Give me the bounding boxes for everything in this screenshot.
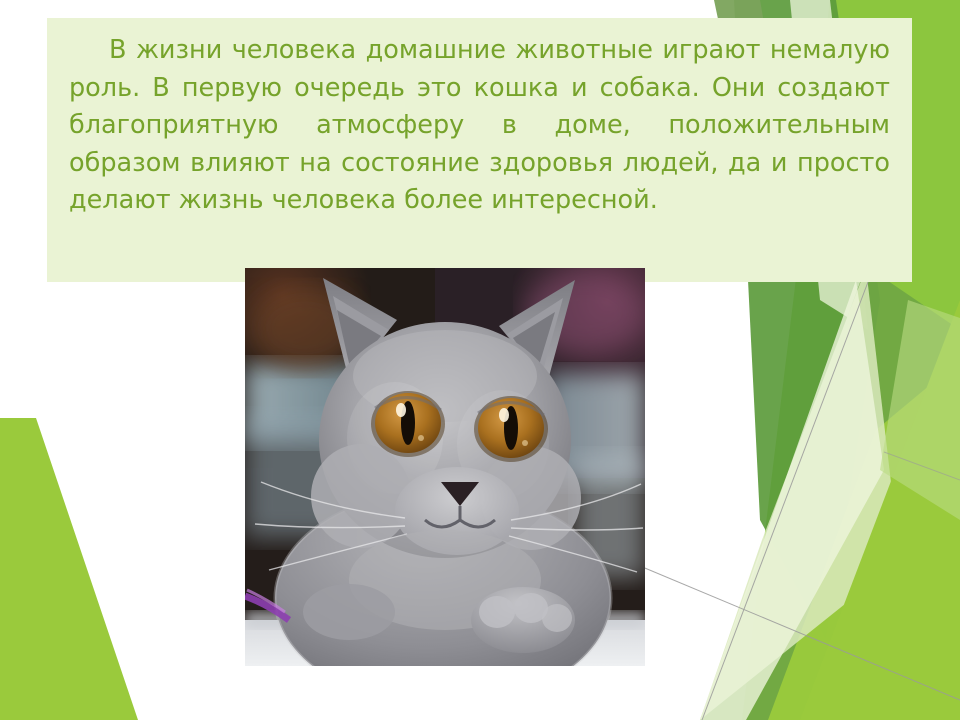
slide-canvas: В жизни человека домашние животные играю… [0,0,960,720]
cat-paw-left [303,584,395,640]
text-content-panel: В жизни человека домашние животные играю… [47,18,912,282]
kitten-photo-illustration [245,268,645,666]
body-paragraph: В жизни человека домашние животные играю… [69,32,890,220]
decor-shape-left-wedge [0,418,138,720]
kitten-photo [245,268,645,666]
